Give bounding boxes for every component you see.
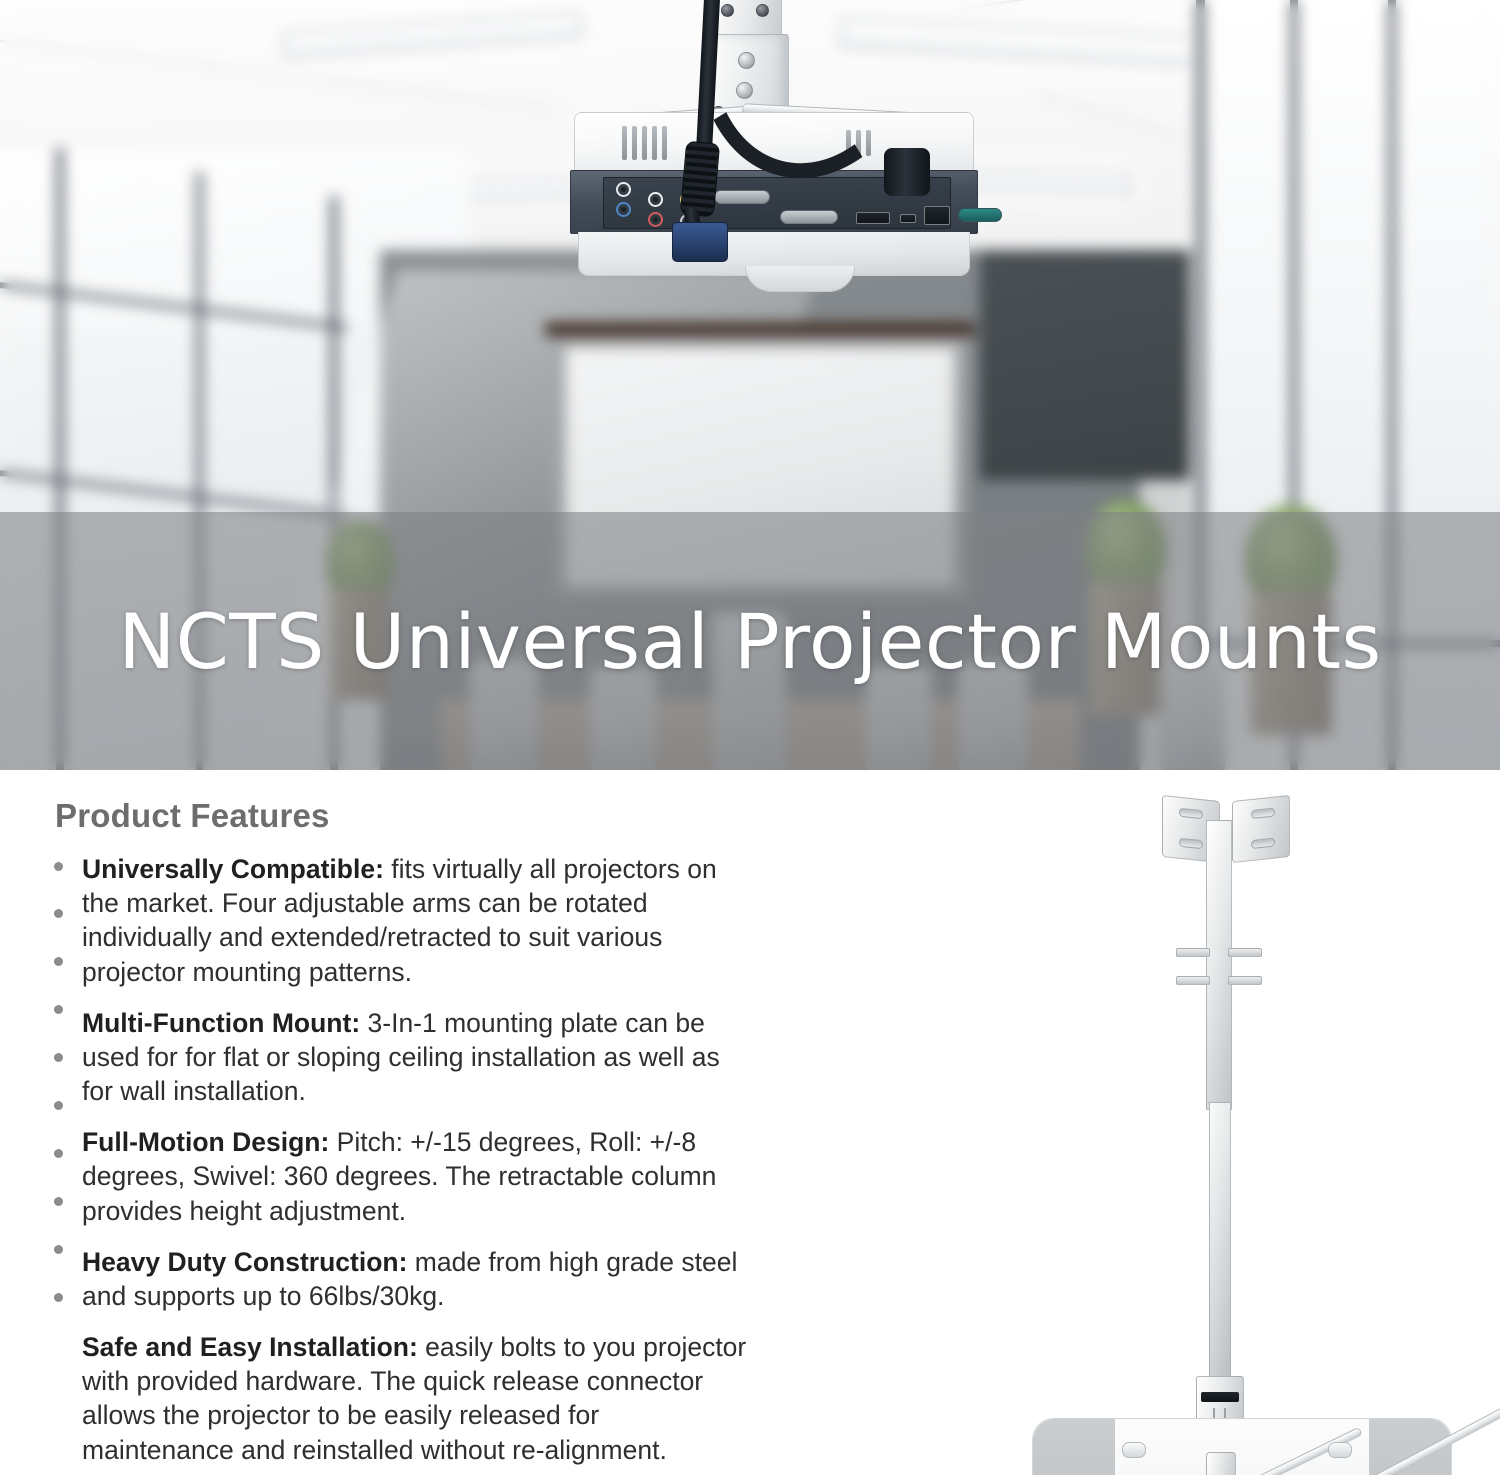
quick-release-slot bbox=[1201, 1392, 1239, 1402]
bullet-marker bbox=[54, 1245, 63, 1254]
feature-title: Safe and Easy Installation: bbox=[82, 1332, 418, 1362]
ceiling-mounting-plate bbox=[1232, 795, 1290, 863]
component-jack bbox=[616, 202, 631, 217]
spider-bracket-hub bbox=[1206, 1452, 1236, 1475]
projector-lens-housing bbox=[745, 266, 855, 292]
bullet-marker bbox=[54, 1149, 63, 1158]
feature-title: Full-Motion Design: bbox=[82, 1127, 329, 1157]
feature-item: Universally Compatible: fits virtually a… bbox=[82, 852, 757, 989]
bullet-marker bbox=[54, 862, 63, 871]
usb-port bbox=[900, 214, 916, 223]
spider-arm-foot bbox=[1122, 1442, 1146, 1458]
feature-item: Full-Motion Design: Pitch: +/-15 degrees… bbox=[82, 1125, 757, 1228]
hero-title: NCTS Universal Projector Mounts bbox=[0, 512, 1500, 770]
hero-banner: NCTS Universal Projector Mounts bbox=[0, 0, 1500, 770]
component-jack bbox=[616, 182, 631, 197]
cable-ferrite-core bbox=[680, 141, 720, 218]
vga-in-port bbox=[714, 190, 770, 204]
feature-title: Universally Compatible: bbox=[82, 854, 384, 884]
bullet-marker bbox=[54, 957, 63, 966]
signal-cable-plug bbox=[884, 148, 930, 196]
bullet-marker bbox=[54, 1293, 63, 1302]
feature-title: Multi-Function Mount: bbox=[82, 1008, 360, 1038]
extendable-column-upper bbox=[1206, 820, 1232, 1110]
vga-cable-plug bbox=[672, 222, 728, 262]
bullet-marker bbox=[54, 1197, 63, 1206]
extendable-column-lower bbox=[1209, 1102, 1231, 1387]
feature-item: Multi-Function Mount: 3-In-1 mounting pl… bbox=[82, 1006, 757, 1109]
feature-item: Safe and Easy Installation: easily bolts… bbox=[82, 1330, 757, 1467]
bullet-marker bbox=[54, 1005, 63, 1014]
feature-title: Heavy Duty Construction: bbox=[82, 1247, 407, 1277]
product-photo bbox=[1010, 780, 1480, 1475]
spider-arm-foot bbox=[1328, 1442, 1352, 1458]
component-jack bbox=[648, 192, 663, 207]
ethernet-port bbox=[924, 206, 950, 225]
serial-port bbox=[958, 208, 1002, 222]
hdmi-port bbox=[856, 212, 890, 224]
bullet-gutter bbox=[0, 770, 82, 1475]
feature-item: Heavy Duty Construction: made from high … bbox=[82, 1245, 757, 1313]
product-listing-page: NCTS Universal Projector Mounts Product … bbox=[0, 0, 1500, 1475]
vga-out-port bbox=[780, 210, 838, 224]
bullet-marker bbox=[54, 909, 63, 918]
bullet-marker bbox=[54, 1053, 63, 1062]
product-features-list: Universally Compatible: fits virtually a… bbox=[82, 852, 757, 1467]
bullet-marker bbox=[54, 1101, 63, 1110]
product-features-heading: Product Features bbox=[55, 797, 330, 835]
composite-jack bbox=[648, 212, 663, 227]
